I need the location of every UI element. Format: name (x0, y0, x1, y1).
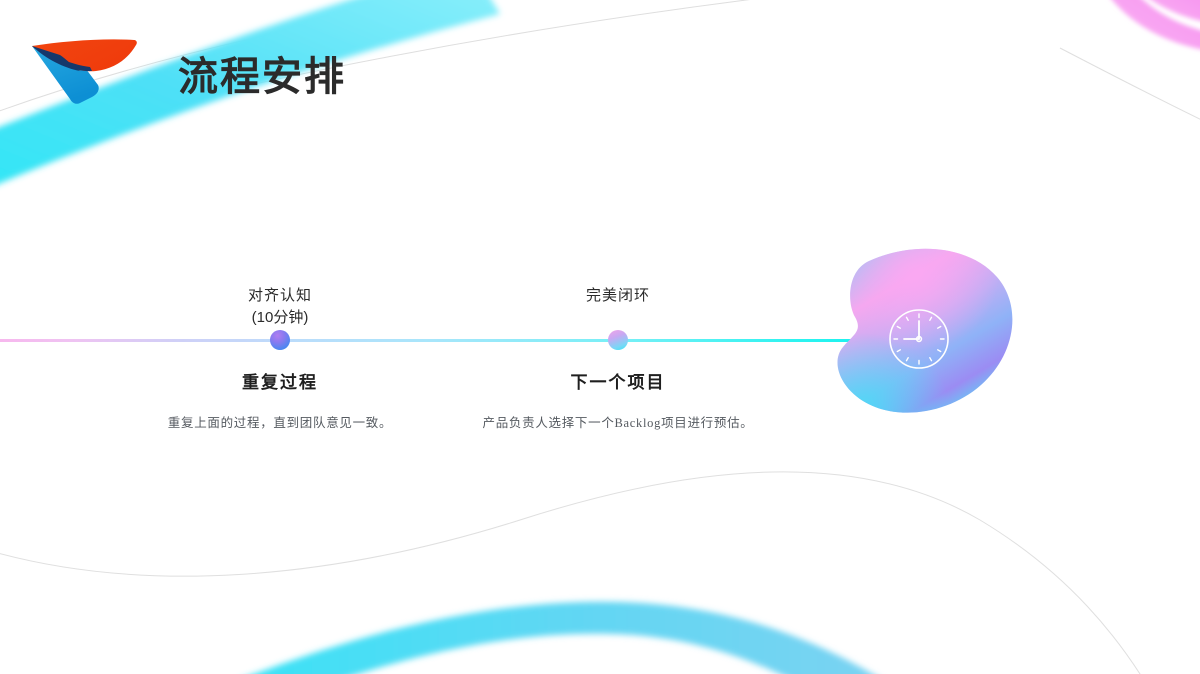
node-label-top: 完美闭环 (458, 286, 778, 307)
company-swoosh-logo (30, 37, 142, 105)
timeline-dot-align[interactable] (270, 330, 290, 350)
node-label-top: 对齐认知 (10分钟) (120, 286, 440, 328)
timeline-dot-close[interactable] (608, 330, 628, 350)
node-description: 产品负责人选择下一个Backlog项目进行预估。 (458, 412, 778, 431)
timeline-node-align[interactable]: 对齐认知 (10分钟) 重复过程 重复上面的过程，直到团队意见一致。 (120, 250, 440, 450)
node-title: 重复过程 (120, 368, 440, 393)
node-label-duration: (10分钟) (120, 307, 440, 328)
node-description: 重复上面的过程，直到团队意见一致。 (120, 412, 440, 431)
timeline-node-close[interactable]: 完美闭环 下一个项目 产品负责人选择下一个Backlog项目进行预估。 (458, 250, 778, 450)
node-label-top-text: 对齐认知 (120, 286, 440, 307)
node-title: 下一个项目 (458, 368, 778, 393)
slide-header: 流程安排 (0, 0, 1200, 130)
node-label-top-text: 完美闭环 (458, 286, 778, 307)
cyan-swoosh-bottom (190, 602, 930, 674)
page-title: 流程安排 (178, 44, 346, 102)
slide-canvas: 流程安排 对齐认知 (10分钟) 重复过程 重复上面的过程，直到团队意见一致。 … (0, 0, 1200, 674)
clock-icon (887, 307, 951, 371)
